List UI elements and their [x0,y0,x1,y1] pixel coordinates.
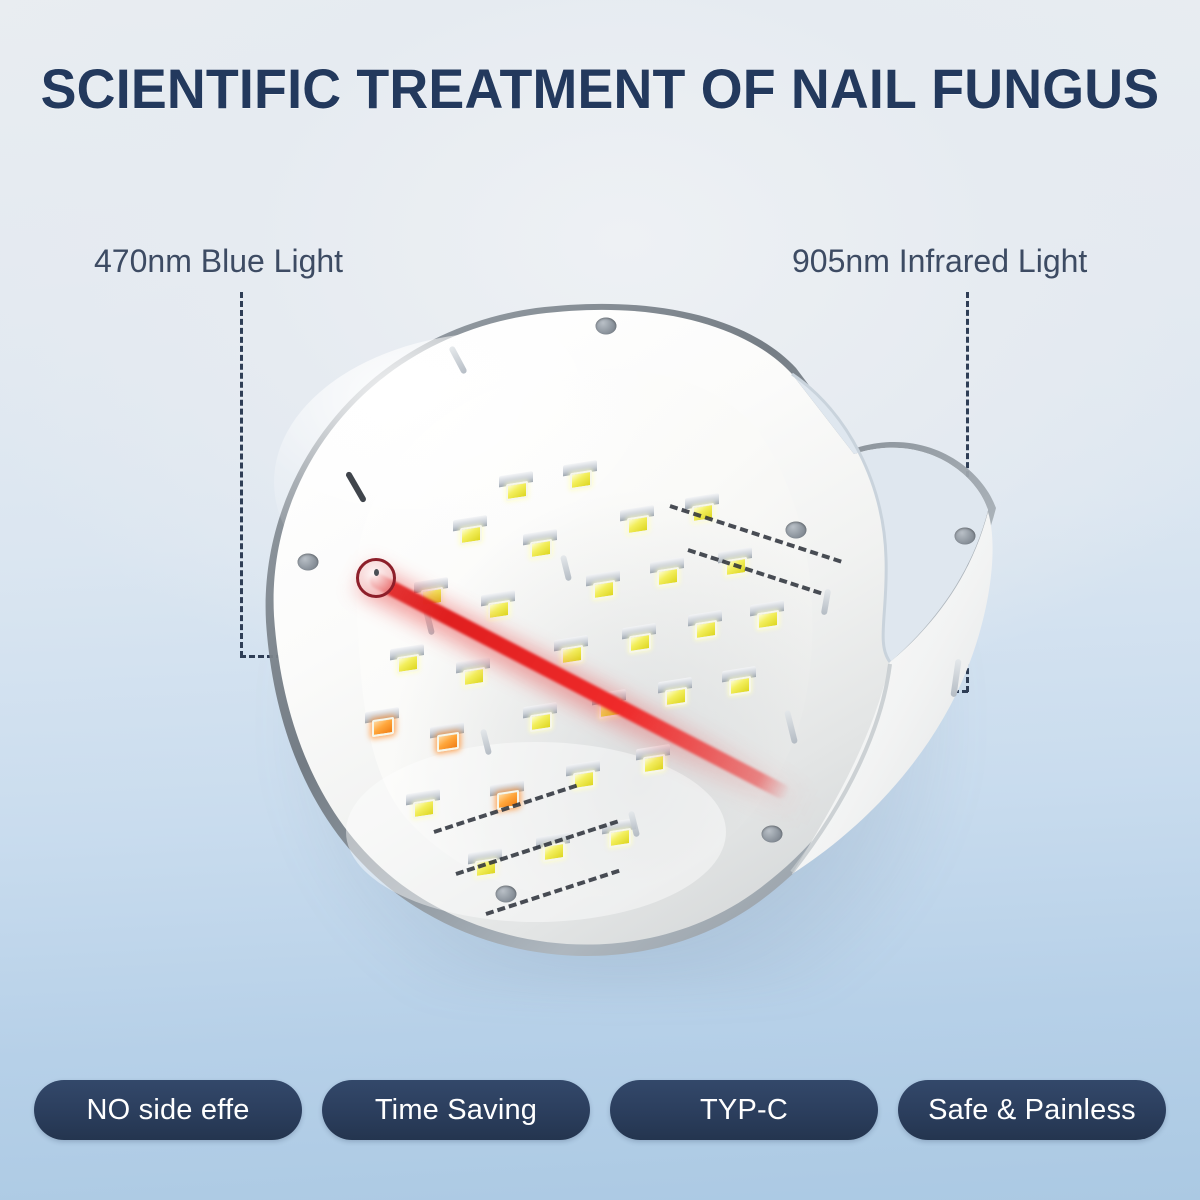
feature-pill-label: NO side effe [86,1094,249,1127]
feature-pill-row: NO side effe Time Saving TYP-C Safe & Pa… [34,1080,1166,1140]
feature-pill-label: TYP-C [700,1094,788,1127]
page-title: SCIENTIFIC TREATMENT OF NAIL FUNGUS [24,56,1176,121]
feature-pill-time-saving[interactable]: Time Saving [322,1080,590,1140]
feature-pill-typ-c[interactable]: TYP-C [610,1080,878,1140]
feature-pill-no-side-effect[interactable]: NO side effe [34,1080,302,1140]
product-image-uv-nail-lamp [236,272,1026,1012]
feature-pill-label: Safe & Painless [928,1094,1136,1127]
infographic-canvas: SCIENTIFIC TREATMENT OF NAIL FUNGUS 470n… [0,0,1200,1200]
feature-pill-label: Time Saving [375,1094,537,1127]
feature-pill-safe-painless[interactable]: Safe & Painless [898,1080,1166,1140]
product-body-shape [236,272,1026,1012]
